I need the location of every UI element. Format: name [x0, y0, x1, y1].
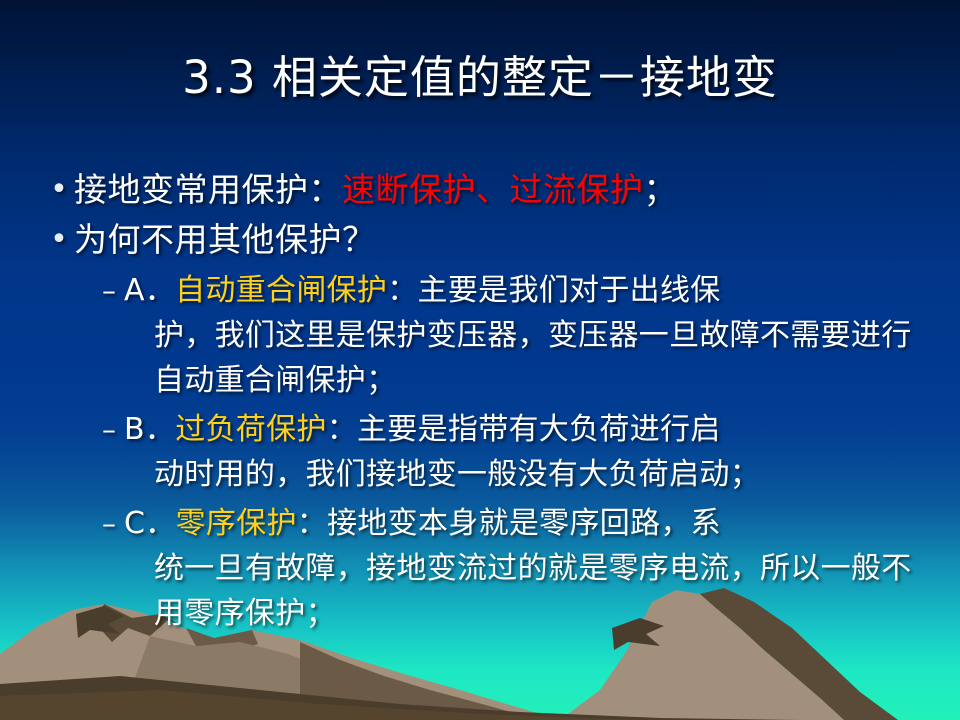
sub-item-first-line: 主要是指带有大负荷进行启 — [357, 412, 721, 447]
sub-item-separator: ： — [327, 412, 357, 447]
sub-item-text: A．自动重合闸保护：主要是我们对于出线保护，我们这里是保护变压器，变压器一旦故障… — [124, 268, 934, 403]
bullet-segment-highlight-red: 速断保护、过流保护 — [342, 170, 644, 209]
sub-item-label: B． — [124, 412, 175, 447]
sub-item-separator: ： — [297, 506, 327, 541]
sub-item-term: 零序保护 — [176, 506, 297, 541]
slide-body: • 接地变常用保护：速断保护、过流保护； • 为何不用其他保护？ – A．自动重… — [44, 168, 934, 638]
title-block: 3.3 相关定值的整定－接地变 — [0, 52, 960, 104]
bullet-item: • 为何不用其他保护？ — [44, 218, 934, 262]
sub-item-term: 自动重合闸保护 — [175, 273, 387, 308]
bullet-item: • 接地变常用保护：速断保护、过流保护； — [44, 168, 934, 212]
bullet-text: 为何不用其他保护？ — [74, 218, 934, 262]
sub-item: – C．零序保护：接地变本身就是零序回路，系统一旦有故障，接地变流过的就是零序电… — [44, 501, 934, 636]
bullet-marker-icon: • — [44, 168, 74, 212]
bullet-marker-icon: • — [44, 218, 74, 262]
sub-item-label: C． — [124, 506, 176, 541]
bullet-segment-plain: 接地变常用保护： — [74, 170, 342, 209]
page-title: 3.3 相关定值的整定－接地变 — [182, 52, 778, 104]
sub-item-term: 过负荷保护 — [175, 412, 327, 447]
sub-item-label: A． — [124, 273, 175, 308]
sub-item-continuation: 动时用的，我们接地变一般没有大负荷启动； — [124, 452, 934, 497]
dash-marker-icon: – — [102, 407, 124, 452]
dash-marker-icon: – — [102, 268, 124, 313]
sub-item-continuation: 统一旦有故障，接地变流过的就是零序电流，所以一般不用零序保护； — [124, 546, 934, 636]
sub-item-first-line: 接地变本身就是零序回路，系 — [327, 506, 721, 541]
sub-item: – A．自动重合闸保护：主要是我们对于出线保护，我们这里是保护变压器，变压器一旦… — [44, 268, 934, 403]
dash-marker-icon: – — [102, 501, 124, 546]
bullet-text: 接地变常用保护：速断保护、过流保护； — [74, 168, 934, 212]
sub-item-first-line: 主要是我们对于出线保 — [418, 273, 721, 308]
sub-item-continuation: 护，我们这里是保护变压器，变压器一旦故障不需要进行自动重合闸保护； — [124, 313, 934, 403]
sub-item-separator: ： — [387, 273, 417, 308]
bullet-segment-plain: 为何不用其他保护？ — [74, 220, 376, 259]
presentation-slide: 3.3 相关定值的整定－接地变 • 接地变常用保护：速断保护、过流保护； • 为… — [0, 0, 960, 720]
bullet-segment-trailing: ； — [644, 170, 678, 209]
sub-item-text: C．零序保护：接地变本身就是零序回路，系统一旦有故障，接地变流过的就是零序电流，… — [124, 501, 934, 636]
sub-item: – B．过负荷保护：主要是指带有大负荷进行启动时用的，我们接地变一般没有大负荷启… — [44, 407, 934, 497]
sub-item-text: B．过负荷保护：主要是指带有大负荷进行启动时用的，我们接地变一般没有大负荷启动； — [124, 407, 934, 497]
